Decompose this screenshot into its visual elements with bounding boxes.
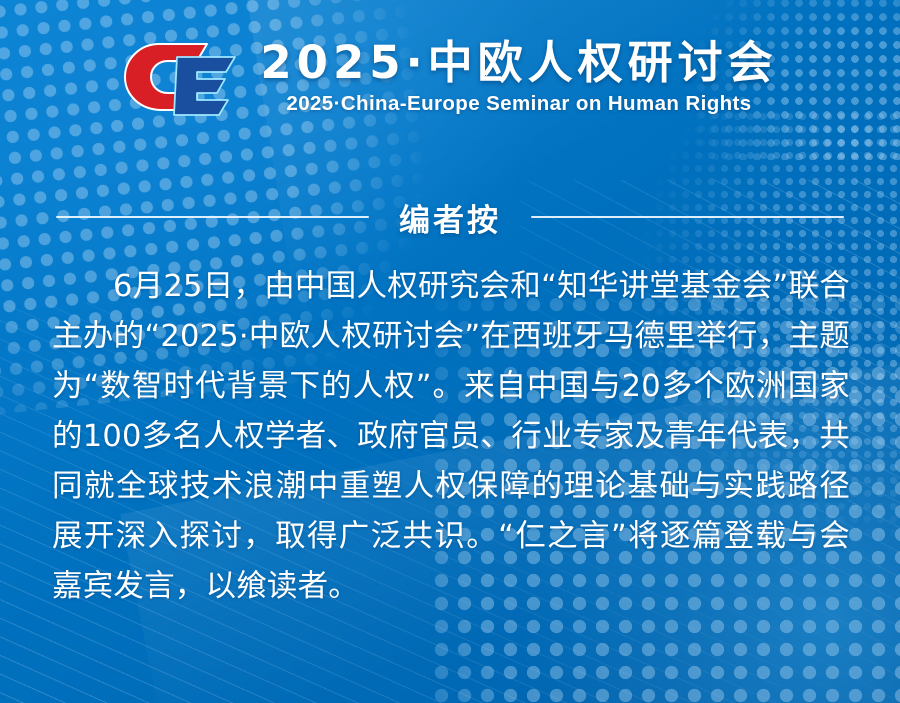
poster-header: 2025·中欧人权研讨会 2025·China-Europe Seminar o…	[0, 0, 900, 156]
divider-line-right	[531, 216, 844, 218]
section-title-editors-note: 编者按	[399, 195, 501, 240]
ce-monogram-logo-icon	[122, 35, 238, 121]
editors-note-paragraph: 6月25日，由中国人权研究会和“知华讲堂基金会”联合主办的“2025·中欧人权研…	[52, 262, 850, 612]
poster-title-english: 2025·China-Europe Seminar on Human Right…	[286, 92, 751, 116]
section-heading: 编者按	[0, 186, 900, 248]
poster-title-chinese: 2025·中欧人权研讨会	[260, 40, 777, 86]
title-block: 2025·中欧人权研讨会 2025·China-Europe Seminar o…	[260, 40, 777, 117]
divider-line-left	[56, 216, 369, 218]
poster-canvas: 2025·中欧人权研讨会 2025·China-Europe Seminar o…	[0, 0, 900, 703]
